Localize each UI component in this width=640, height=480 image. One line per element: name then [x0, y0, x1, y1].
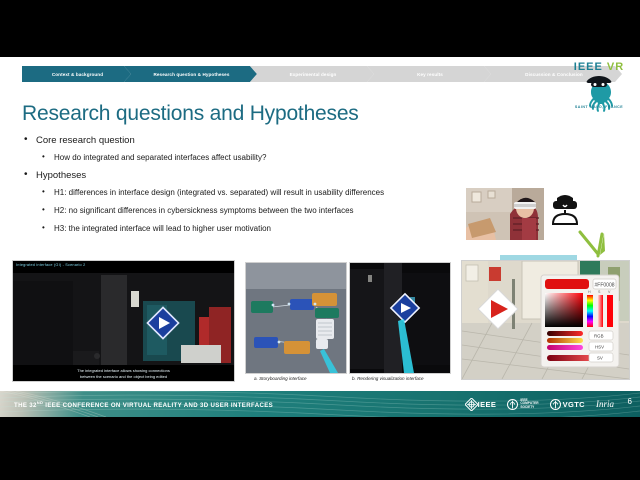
video-caption-line-2: between the scenario and the object bein…: [13, 374, 234, 379]
ieee-logo: IEEE: [465, 398, 497, 411]
bullet-hypothesis-h1: H1: differences in interface design (int…: [22, 187, 502, 199]
breadcrumb: Context & background Research question &…: [22, 66, 615, 82]
svg-text:SV: SV: [597, 356, 603, 361]
footer-logos: IEEE IEEE COMPUTER SOCIETY: [465, 395, 614, 413]
bullet-hypothesis-h2: H2: no significant differences in cybers…: [22, 205, 502, 217]
conference-city-label: SAINT MALO, FRANCE: [562, 105, 636, 109]
breadcrumb-step-experimental-design[interactable]: Experimental design: [250, 66, 374, 82]
cs-line-3: SOCIETY: [520, 406, 538, 410]
figure-rendering-visualization[interactable]: [349, 262, 451, 374]
svg-text:H: H: [588, 290, 591, 294]
green-arrow-accent-icon: [578, 230, 608, 260]
figure-storyboarding-interface[interactable]: [245, 262, 347, 374]
ieee-computer-society-logo: IEEE COMPUTER SOCIETY: [507, 399, 538, 410]
page-title: Research questions and Hypotheses: [22, 102, 359, 126]
ieee-diamond-icon: [465, 398, 478, 411]
svg-text:RGB: RGB: [594, 334, 604, 339]
media-strip: Integrated interface (GI) - Scenario 2 T…: [0, 260, 640, 390]
photo-user-with-headset: [466, 188, 544, 240]
bullet-hypothesis-h3: H3: the integrated interface will lead t…: [22, 223, 502, 235]
ieee-logo-text: IEEE: [478, 400, 497, 409]
video-player-frame: Context & background Research question &…: [0, 0, 640, 480]
ieee-vr-logo: IEEE VR SAINT MALO, FRANCE: [562, 61, 636, 109]
breadcrumb-step-research-question[interactable]: Research question & Hypotheses: [124, 66, 257, 82]
bullet-core-research-question: Core research question: [22, 135, 502, 146]
figure-color-picker-scene[interactable]: #FF0008: [461, 260, 630, 380]
conference-title-rest: IEEE CONFERENCE ON VIRTUAL REALITY AND 3…: [43, 402, 273, 409]
conference-title-prefix: THE 32: [14, 402, 37, 409]
page-number: 6: [628, 397, 632, 406]
computer-society-text: IEEE COMPUTER SOCIETY: [520, 399, 538, 410]
figure-c-caption: b. Rendering visualization interface: [352, 376, 424, 381]
vr-user-icon: [548, 191, 582, 225]
footer-ribbon: THE 32ND IEEE CONFERENCE ON VIRTUAL REAL…: [0, 391, 640, 417]
svg-text:HSV: HSV: [595, 345, 604, 350]
video-caption: The integrated interface allows showing …: [13, 368, 234, 379]
breadcrumb-step-context[interactable]: Context & background: [22, 66, 131, 82]
video-integrated-interface[interactable]: Integrated interface (GI) - Scenario 2 T…: [12, 260, 235, 382]
bullet-usability-question: How do integrated and separated interfac…: [22, 152, 502, 164]
vgtc-mark-icon: [550, 399, 561, 410]
bullet-list: Core research question How do integrated…: [22, 135, 502, 241]
figure-b-caption: a. Storyboarding interface: [254, 376, 307, 381]
bullet-hypotheses: Hypotheses: [22, 170, 502, 181]
computer-society-mark-icon: [507, 399, 518, 410]
svg-text:#FF0008: #FF0008: [595, 282, 615, 288]
breadcrumb-step-key-results[interactable]: Key results: [367, 66, 491, 82]
vgtc-logo: VGTC: [550, 399, 585, 410]
vgtc-logo-text: VGTC: [563, 400, 585, 409]
video-overlay-label: Integrated interface (GI) - Scenario 2: [16, 263, 85, 267]
presentation-slide: Context & background Research question &…: [0, 57, 640, 417]
conference-title: THE 32ND IEEE CONFERENCE ON VIRTUAL REAL…: [14, 400, 273, 409]
inria-logo-text: Inria: [596, 399, 614, 409]
